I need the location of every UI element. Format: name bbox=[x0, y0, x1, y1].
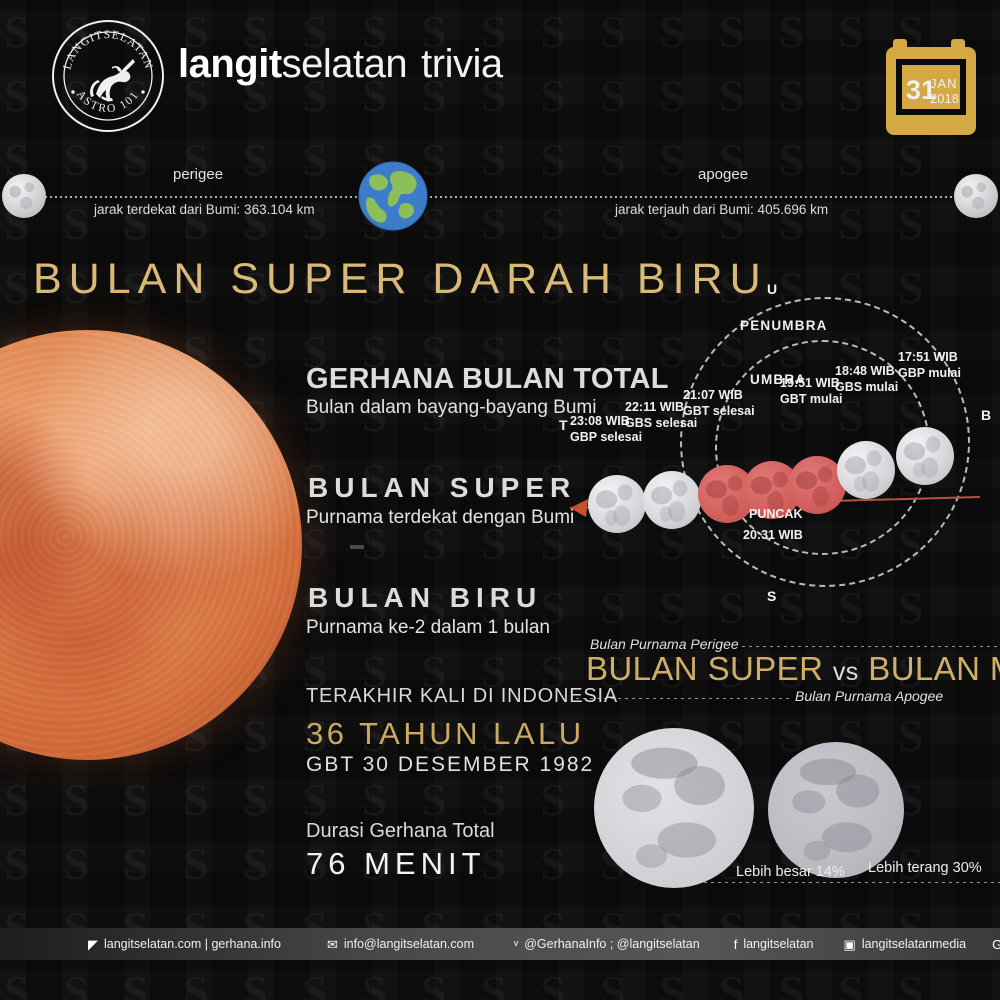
phase-label-gbt-selesai: 21:07 WIB GBT selesai bbox=[683, 387, 755, 419]
phase-time-gbt-selesai: 21:07 WIB bbox=[683, 388, 743, 402]
footer-text-email: info@langitselatan.com bbox=[344, 937, 474, 951]
duration-label: Durasi Gerhana Total bbox=[306, 820, 495, 843]
cardinal-north-label: U bbox=[767, 281, 777, 297]
brand-name-bold: langit bbox=[178, 42, 282, 86]
footer-item-twitter[interactable]: ᵛ @GerhanaInfo ; @langitselatan bbox=[514, 937, 700, 951]
calendar-month-text: JAN bbox=[930, 76, 958, 91]
phase-moon-6 bbox=[588, 475, 646, 533]
footer-text-instagram: langitselatanmedia bbox=[862, 937, 966, 951]
svg-text:LANGITSELATAN: LANGITSELATAN bbox=[62, 29, 155, 71]
phase-time-gbt-mulai: 19:51 WIB bbox=[780, 376, 840, 390]
phase-label-gbt-mulai: 19:51 WIB GBT mulai bbox=[780, 375, 843, 407]
contact-footer-bar: ◤ langitselatan.com | gerhana.info ✉ inf… bbox=[0, 928, 1000, 960]
earth-icon bbox=[357, 160, 429, 232]
calendar-icon: 31 JAN 2018 bbox=[885, 33, 977, 138]
phase-time-gbp-selesai: 23:08 WIB bbox=[570, 414, 630, 428]
comparison-note-brightness: Lebih terang 30% bbox=[868, 860, 982, 876]
feature-title-bulan-super: BULAN SUPER bbox=[308, 472, 576, 504]
super-moon-illustration bbox=[594, 728, 754, 888]
cardinal-south-label: S bbox=[767, 588, 776, 604]
phase-event-gbt-selesai: GBT selesai bbox=[683, 404, 755, 418]
cardinal-west-label: T bbox=[559, 417, 568, 433]
email-icon: ✉ bbox=[327, 938, 338, 951]
comparison-footer-dotted-line bbox=[704, 882, 1000, 883]
brand-name-light: selatan bbox=[282, 42, 407, 86]
apogee-detail: jarak terjauh dari Bumi: 405.696 km bbox=[615, 202, 828, 217]
comparison-title-left: BULAN SUPER bbox=[586, 650, 823, 687]
twitter-icon: ᵛ bbox=[514, 938, 518, 951]
cardinal-east-label: B bbox=[981, 407, 991, 423]
brand-name-suffix: trivia bbox=[421, 42, 502, 86]
phase-label-gbs-mulai: 18:48 WIB GBS mulai bbox=[835, 363, 898, 395]
comparison-title-right: BULAN MINI bbox=[868, 650, 1000, 687]
footer-text-twitter: @GerhanaInfo ; @langitselatan bbox=[524, 937, 699, 951]
apogee-label: apogee bbox=[698, 166, 748, 183]
footer-item-website[interactable]: ◤ langitselatan.com | gerhana.info bbox=[88, 937, 281, 951]
phase-event-gbp-mulai: GBP mulai bbox=[898, 366, 961, 380]
google-plus-icon: G+ bbox=[992, 938, 1000, 951]
phase-event-gbt-mulai: GBT mulai bbox=[780, 392, 843, 406]
footer-item-facebook[interactable]: f langitselatan bbox=[734, 937, 814, 951]
super-vs-mini-section: Bulan Purnama Perigee BULAN SUPER vs BUL… bbox=[570, 634, 1000, 904]
phase-time-gbp-mulai: 17:51 WIB bbox=[898, 350, 958, 364]
phase-label-gbp-mulai: 17:51 WIB GBP mulai bbox=[898, 349, 961, 381]
feature-subtitle-bulan-biru: Purnama ke-2 dalam 1 bulan bbox=[306, 617, 550, 639]
feature-subtitle-bulan-super: Purnama terdekat dengan Bumi bbox=[306, 507, 574, 529]
comparison-title-vs: vs bbox=[833, 658, 859, 686]
eclipse-path-diagram: U S T B PENUMBRA UMBRA 23:08 WIB GBP sel… bbox=[540, 275, 1000, 615]
perigee-moon-icon bbox=[2, 174, 46, 218]
last-occurrence-value: 36 TAHUN LALU bbox=[306, 716, 585, 752]
brand-wordmark: langitselatantrivia bbox=[178, 42, 503, 87]
langitselatan-logo-icon: LANGITSELATAN ASTRO 101 bbox=[50, 18, 166, 134]
rss-icon: ◤ bbox=[88, 938, 98, 951]
apogee-moon-icon bbox=[954, 174, 998, 218]
footer-item-instagram[interactable]: ▣ langitselatanmedia bbox=[844, 937, 967, 951]
peak-label: PUNCAK bbox=[749, 506, 802, 522]
perigee-label: perigee bbox=[173, 166, 223, 183]
footer-text-facebook: langitselatan bbox=[743, 937, 813, 951]
phase-moon-1 bbox=[837, 441, 895, 499]
comparison-kicker-dotted-line bbox=[742, 646, 1000, 647]
comparison-title: BULAN SUPER vs BULAN MINI bbox=[586, 650, 1000, 688]
peak-time: 20:31 WIB bbox=[743, 527, 803, 543]
phase-event-gbs-mulai: GBS mulai bbox=[835, 380, 898, 394]
blood-moon-illustration bbox=[0, 330, 302, 760]
penumbra-label: PENUMBRA bbox=[740, 318, 828, 333]
duration-value: 76 MENIT bbox=[306, 846, 486, 882]
perigee-detail: jarak terdekat dari Bumi: 363.104 km bbox=[94, 202, 315, 217]
footer-item-email[interactable]: ✉ info@langitselatan.com bbox=[327, 937, 474, 951]
separator-dash bbox=[350, 545, 364, 549]
footer-item-google-plus[interactable]: G+ LangitselatanMedia bbox=[992, 937, 1000, 951]
calendar-year-text: 2018 bbox=[930, 91, 959, 106]
facebook-icon: f bbox=[734, 938, 738, 951]
instagram-icon: ▣ bbox=[844, 938, 856, 951]
feature-title-bulan-biru: BULAN BIRU bbox=[308, 582, 542, 614]
phase-time-gbs-mulai: 18:48 WIB bbox=[835, 364, 895, 378]
mini-moon-illustration bbox=[768, 742, 904, 878]
last-occurrence-date: GBT 30 DESEMBER 1982 bbox=[306, 753, 594, 777]
phase-moon-0 bbox=[896, 427, 954, 485]
phase-moon-5 bbox=[643, 471, 701, 529]
phase-event-gbp-selesai: GBP selesai bbox=[570, 430, 642, 444]
comparison-subtitle-dotted-line bbox=[576, 698, 792, 699]
comparison-subtitle: Bulan Purnama Apogee bbox=[795, 688, 943, 704]
orbit-dotted-line bbox=[30, 196, 970, 198]
phase-time-gbs-selesai: 22:11 WIB bbox=[625, 400, 684, 414]
footer-text-website: langitselatan.com | gerhana.info bbox=[104, 937, 281, 951]
infographic-canvas: SSSSSSSSSSSSSSSSSSSSSSSSSSSSSSSSSSSSSSSS… bbox=[0, 0, 1000, 1000]
comparison-note-size: Lebih besar 14% bbox=[736, 864, 845, 880]
